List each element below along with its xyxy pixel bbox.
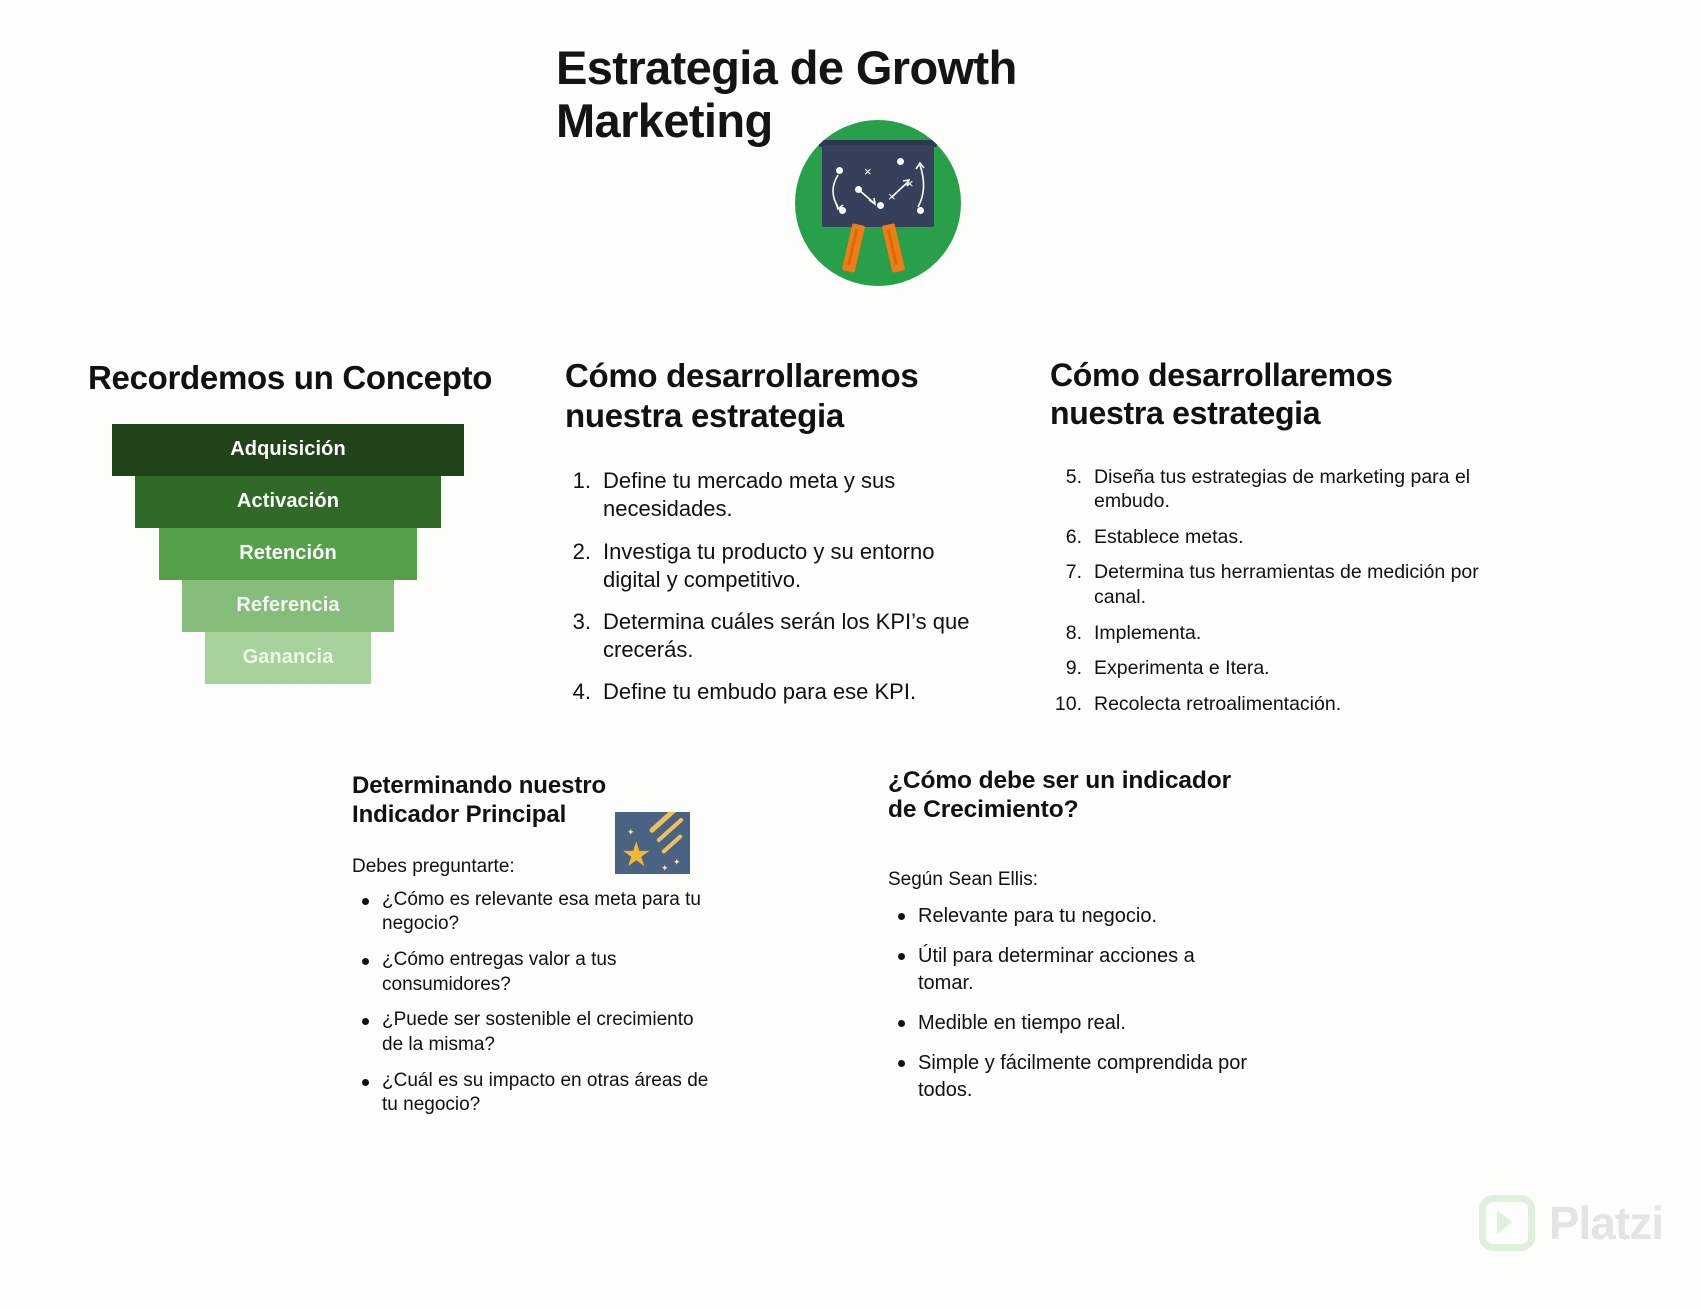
list-item-number: 5. — [1050, 465, 1082, 514]
funnel-stage: Ganancia — [205, 632, 371, 684]
growth-indicator-heading: ¿Cómo debe ser un indicador de Crecimien… — [888, 766, 1248, 825]
list-item: 9.Experimenta e Itera. — [1050, 656, 1480, 681]
list-item-text: Investiga tu producto y su entorno digit… — [603, 538, 995, 594]
shooting-star-sticker: ✦ ✦ ✦ ★ — [615, 812, 690, 874]
growth-funnel: AdquisiciónActivaciónRetenciónReferencia… — [88, 424, 488, 684]
list-item-text: Implementa. — [1094, 621, 1201, 646]
funnel-stage-label: Activación — [237, 490, 339, 513]
platzi-logo-icon — [1479, 1195, 1535, 1251]
list-item-number: 6. — [1050, 525, 1082, 550]
funnel-section: Recordemos un Concepto AdquisiciónActiva… — [88, 358, 508, 684]
list-item-number: 3. — [565, 608, 591, 664]
list-item: 8.Implementa. — [1050, 621, 1480, 646]
funnel-stage: Adquisición — [112, 424, 464, 476]
list-item-text: Diseña tus estrategias de marketing para… — [1094, 465, 1480, 514]
strategy-right-heading: Cómo desarrollaremos nuestra estrategia — [1050, 356, 1480, 433]
list-item: 5.Diseña tus estrategias de marketing pa… — [1050, 465, 1480, 514]
list-item: 10.Recolecta retroalimentación. — [1050, 692, 1480, 717]
list-item: 4.Define tu embudo para ese KPI. — [565, 678, 995, 706]
play-arrows-icon — [822, 145, 934, 227]
list-item: 2.Investiga tu producto y su entorno dig… — [565, 538, 995, 594]
list-item: 1.Define tu mercado meta y sus necesidad… — [565, 467, 995, 523]
strategy-steps-first-half: Cómo desarrollaremos nuestra estrategia … — [565, 356, 995, 720]
easel-leg-left — [842, 223, 865, 273]
list-item: 3.Determina cuáles serán los KPI’s que c… — [565, 608, 995, 664]
list-item: 7.Determina tus herramientas de medición… — [1050, 560, 1480, 609]
list-item: ¿Cuál es su impacto en otras áreas de tu… — [352, 1069, 712, 1118]
list-item-number: 10. — [1050, 692, 1082, 717]
growth-indicator-block: ¿Cómo debe ser un indicador de Crecimien… — [888, 766, 1248, 1117]
strategy-steps-second-half: Cómo desarrollaremos nuestra estrategia … — [1050, 356, 1480, 727]
list-item-number: 9. — [1050, 656, 1082, 681]
list-item-number: 4. — [565, 678, 591, 706]
list-item: ¿Cómo entregas valor a tus consumidores? — [352, 948, 712, 997]
list-item-text: Experimenta e Itera. — [1094, 656, 1270, 681]
slide-canvas: Estrategia de Growth Marketing × × × — [0, 0, 1701, 1309]
list-item: 6.Establece metas. — [1050, 525, 1480, 550]
list-item-text: Define tu mercado meta y sus necesidades… — [603, 467, 995, 523]
watermark-brand: Platzi — [1549, 1196, 1663, 1250]
list-item: Medible en tiempo real. — [888, 1010, 1248, 1036]
list-item: Simple y fácilmente comprendida por todo… — [888, 1050, 1248, 1103]
strategy-left-list: 1.Define tu mercado meta y sus necesidad… — [565, 467, 995, 706]
list-item-number: 8. — [1050, 621, 1082, 646]
list-item: Útil para determinar acciones a tomar. — [888, 943, 1248, 996]
list-item-text: Recolecta retroalimentación. — [1094, 692, 1341, 717]
platzi-watermark: Platzi — [1479, 1195, 1663, 1251]
strategy-board-icon: × × × — [795, 120, 961, 286]
funnel-stage-label: Retención — [239, 542, 337, 565]
indicator-question-list: ¿Cómo es relevante esa meta para tu nego… — [352, 888, 712, 1119]
funnel-stage-label: Adquisición — [230, 438, 346, 461]
list-item: ¿Puede ser sostenible el crecimiento de … — [352, 1008, 712, 1057]
funnel-stage-label: Referencia — [236, 594, 339, 617]
growth-indicator-list: Relevante para tu negocio.Útil para dete… — [888, 903, 1248, 1103]
strategy-right-list: 5.Diseña tus estrategias de marketing pa… — [1050, 465, 1480, 717]
strategy-left-heading: Cómo desarrollaremos nuestra estrategia — [565, 356, 995, 435]
list-item: ¿Cómo es relevante esa meta para tu nego… — [352, 888, 712, 937]
list-item-number: 7. — [1050, 560, 1082, 609]
funnel-stage: Retención — [159, 528, 417, 580]
list-item-number: 2. — [565, 538, 591, 594]
funnel-heading: Recordemos un Concepto — [88, 358, 508, 398]
easel-leg-right — [882, 223, 905, 273]
star-icon: ★ — [621, 838, 651, 872]
chalkboard-surface: × × × — [822, 145, 934, 227]
list-item-text: Determina cuáles serán los KPI’s que cre… — [603, 608, 995, 664]
funnel-stage: Referencia — [182, 580, 394, 632]
list-item-text: Define tu embudo para ese KPI. — [603, 678, 916, 706]
list-item: Relevante para tu negocio. — [888, 903, 1248, 929]
list-item-number: 1. — [565, 467, 591, 523]
list-item-text: Establece metas. — [1094, 525, 1244, 550]
funnel-stage: Activación — [135, 476, 441, 528]
list-item-text: Determina tus herramientas de medición p… — [1094, 560, 1480, 609]
title-block: Estrategia de Growth Marketing — [556, 42, 1076, 147]
page-title: Estrategia de Growth Marketing — [556, 42, 1026, 147]
funnel-stage-label: Ganancia — [243, 646, 334, 669]
growth-indicator-lead-in: Según Sean Ellis: — [888, 869, 1248, 891]
